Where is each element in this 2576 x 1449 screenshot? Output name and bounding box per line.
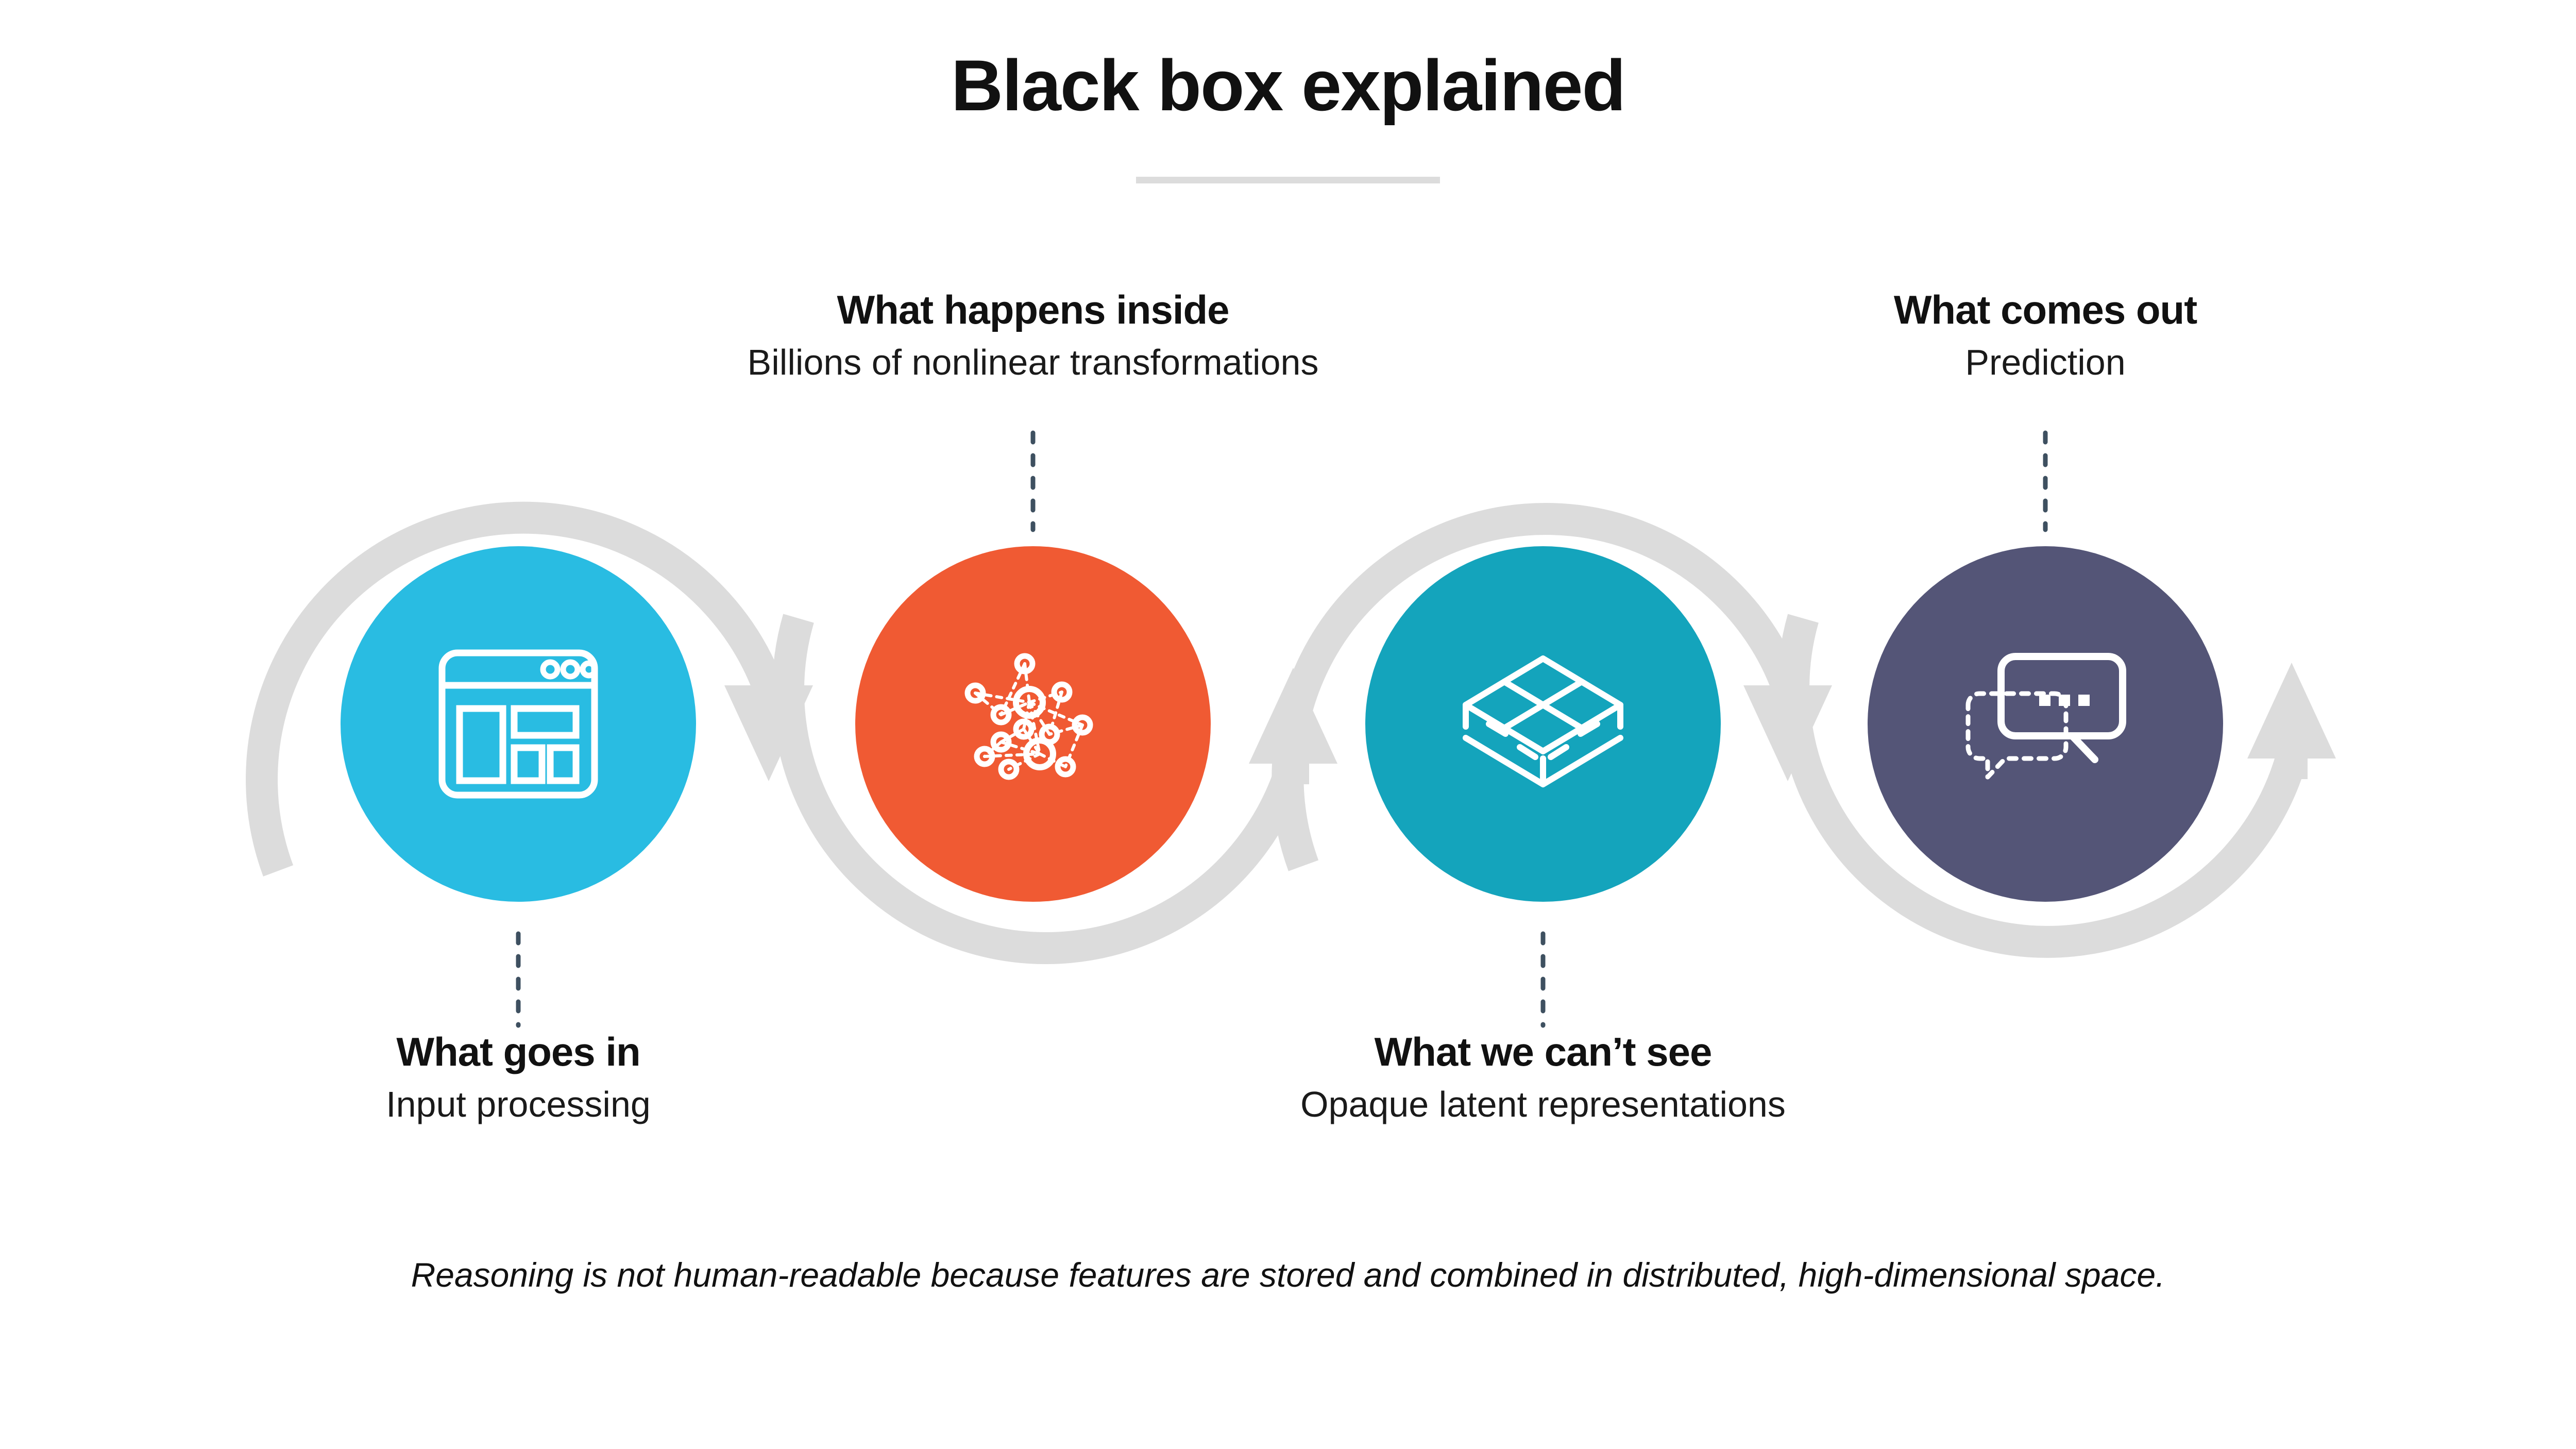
browser-window-icon bbox=[436, 647, 601, 801]
stage-circle-hidden[interactable] bbox=[1365, 546, 1721, 902]
label-block-input: What goes in Input processing bbox=[3, 1030, 1033, 1126]
stage-circle-input[interactable] bbox=[341, 546, 696, 902]
chat-bubbles-icon bbox=[1958, 649, 2133, 799]
footnote-text: Reasoning is not human-readable because … bbox=[361, 1252, 2215, 1298]
label-subtitle-input: Input processing bbox=[3, 1083, 1033, 1126]
stage-circle-output[interactable] bbox=[1868, 546, 2223, 902]
label-subtitle-inside: Billions of nonlinear transformations bbox=[466, 341, 1600, 384]
neural-network-icon bbox=[940, 636, 1126, 812]
label-title-input: What goes in bbox=[3, 1030, 1033, 1074]
label-title-inside: What happens inside bbox=[466, 288, 1600, 332]
stage-circle-inside[interactable] bbox=[855, 546, 1211, 902]
label-block-output: What comes out Prediction bbox=[1530, 288, 2561, 384]
layered-cube-icon bbox=[1458, 649, 1628, 799]
label-subtitle-output: Prediction bbox=[1530, 341, 2561, 384]
label-subtitle-hidden: Opaque latent representations bbox=[976, 1083, 2110, 1126]
label-block-inside: What happens inside Billions of nonlinea… bbox=[466, 288, 1600, 384]
label-title-hidden: What we can’t see bbox=[976, 1030, 2110, 1074]
label-block-hidden: What we can’t see Opaque latent represen… bbox=[976, 1030, 2110, 1126]
label-title-output: What comes out bbox=[1530, 288, 2561, 332]
infographic-canvas: Black box explained bbox=[0, 0, 2576, 1449]
